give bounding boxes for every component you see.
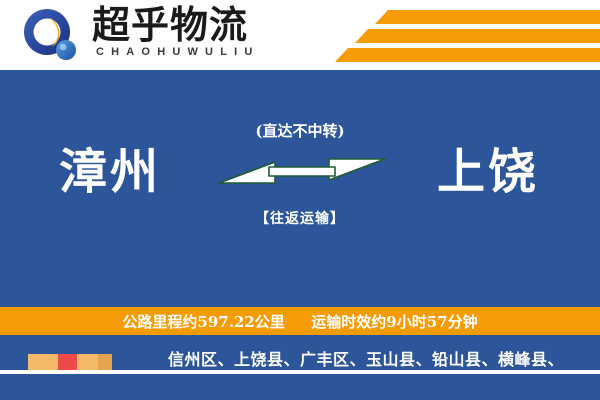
route-middle: (直达不中转) 【往返运输】 xyxy=(205,122,395,232)
direct-shipping-note: (直达不中转) xyxy=(205,122,395,140)
destination-city: 上饶 xyxy=(388,142,588,202)
brand-name-en: CHAOHUWULIU xyxy=(96,46,260,58)
route-info-bar: 公路里程约597.22公里 运输时效约9小时57分钟 xyxy=(0,307,600,335)
duration-text: 运输时效约9小时57分钟 xyxy=(311,313,477,331)
banner-header: 超乎物流 CHAOHUWULIU xyxy=(0,0,600,70)
route-panel: 漳州 (直达不中转) 【往返运输】 上饶 xyxy=(0,70,600,372)
route-info-text: 公路里程约597.22公里 运输时效约9小时57分钟 xyxy=(122,311,477,332)
circle-crescent-logo-icon xyxy=(22,8,80,63)
logistics-route-banner: 超乎物流 CHAOHUWULIU 漳州 (直达不中转) xyxy=(0,0,600,400)
distance-text: 公路里程约597.22公里 xyxy=(122,313,284,331)
orange-speed-stripes-icon xyxy=(330,8,600,64)
round-trip-note: 【往返运输】 xyxy=(205,210,395,228)
banner-footer xyxy=(0,374,600,400)
origin-city: 漳州 xyxy=(10,142,210,202)
brand-name-cn: 超乎物流 xyxy=(92,4,248,46)
route-row: 漳州 (直达不中转) 【往返运输】 上饶 xyxy=(0,122,600,232)
coverage-line: 信州区、上饶县、广丰区、玉山县、铅山县、横峰县、 xyxy=(168,346,588,373)
bidirectional-arrow-icon xyxy=(217,150,387,192)
